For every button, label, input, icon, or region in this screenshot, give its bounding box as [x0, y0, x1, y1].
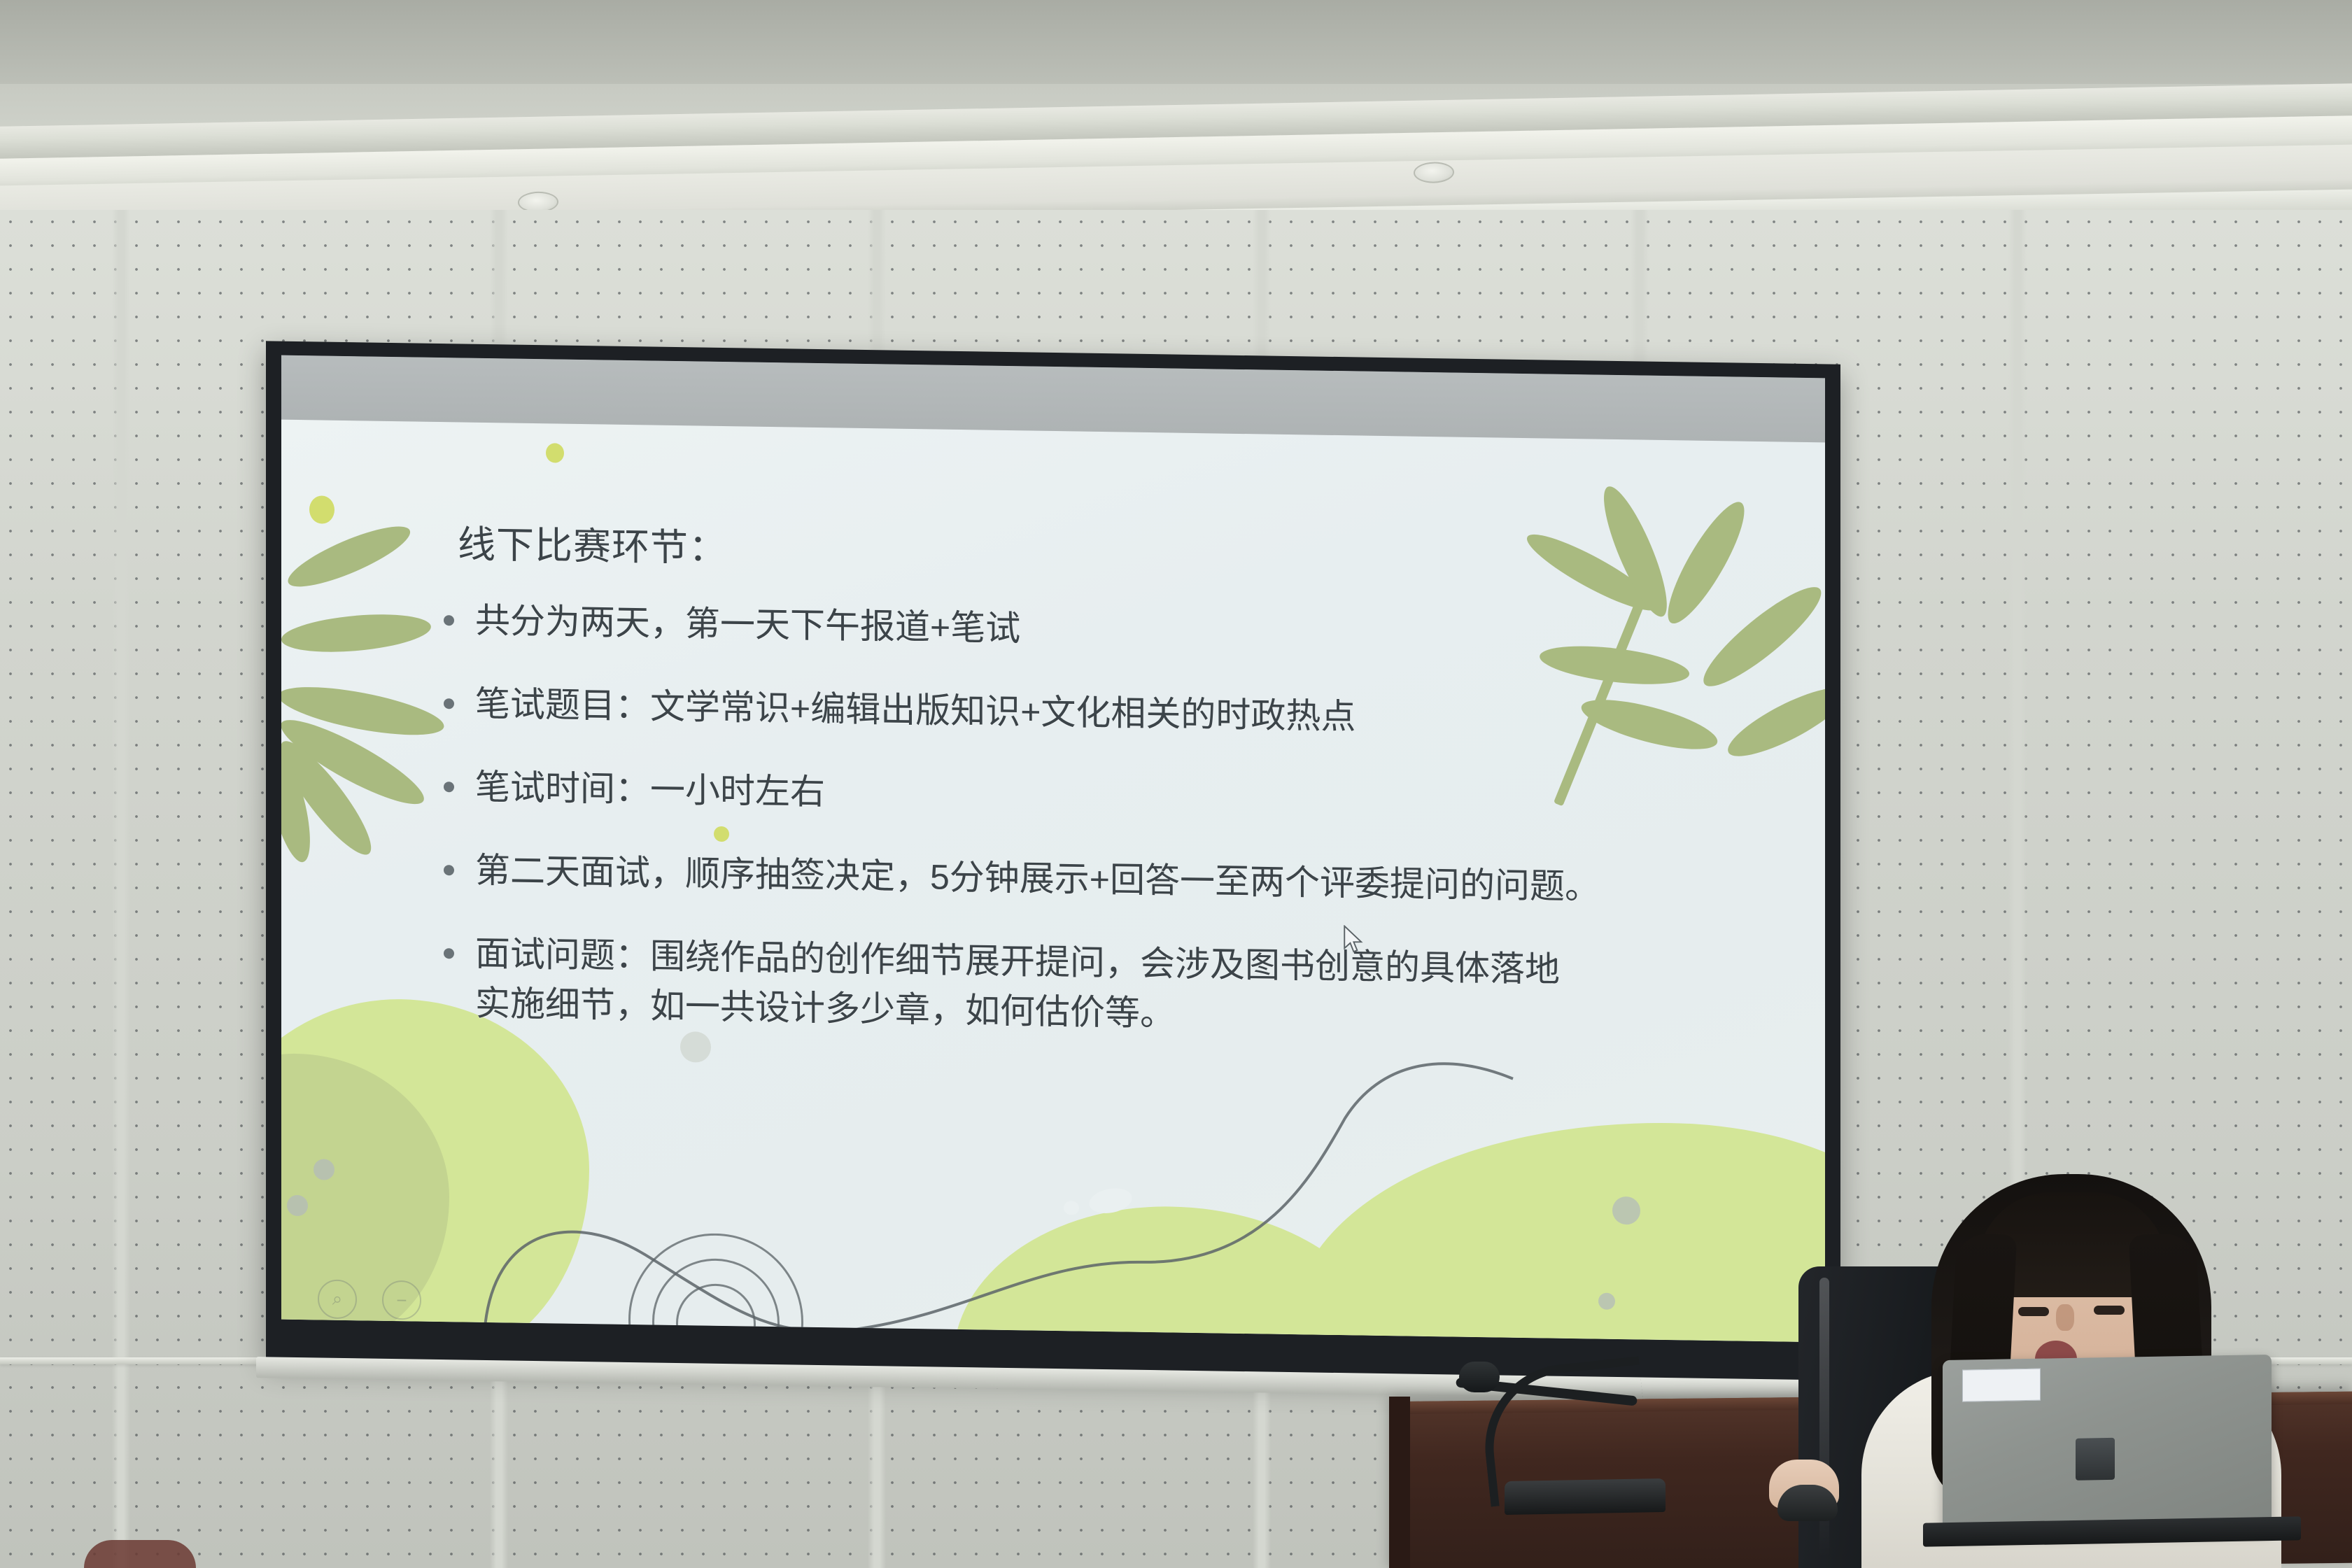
bullet-text: 共分为两天，第一天下午报道+笔试 [475, 596, 1020, 654]
slide-bullet-list: 共分为两天，第一天下午报道+笔试 笔试题目：文学常识+编辑出版知识+文化相关的时… [444, 595, 1724, 1080]
microphone-head-icon [1459, 1362, 1500, 1392]
leaf-branch-left-decor [281, 558, 442, 856]
foreground-shape [84, 1540, 196, 1568]
slideshow-toolbar[interactable]: ⌕ − [318, 1279, 421, 1320]
minus-icon[interactable]: − [382, 1280, 421, 1320]
bullet-dot-icon [444, 615, 454, 626]
slide-canvas[interactable]: 线下比赛环节： 共分为两天，第一天下午报道+笔试 笔试题目：文学常识+编辑出版知… [281, 420, 1825, 1343]
list-item: 面试问题：围绕作品的创作细节展开提问，会涉及图书创意的具体落地实施细节，如一共设… [444, 928, 1724, 1047]
slide-title: 线下比赛环节： [458, 513, 727, 572]
mouse-cursor-icon [1342, 925, 1366, 956]
eye-right [2094, 1306, 2125, 1315]
ceiling-slab [0, 0, 2352, 84]
leaf-icon [282, 516, 416, 598]
eye-left [2018, 1307, 2049, 1316]
presentation-room-photo: 线下比赛环节： 共分为两天，第一天下午报道+笔试 笔试题目：文学常识+编辑出版知… [0, 0, 2352, 1568]
list-item: 共分为两天，第一天下午报道+笔试 [444, 595, 1724, 664]
leaf-icon [281, 609, 432, 657]
list-item: 笔试题目：文学常识+编辑出版知识+文化相关的时政热点 [444, 679, 1724, 747]
magnifier-icon[interactable]: ⌕ [318, 1279, 357, 1319]
bullet-dot-icon [444, 782, 454, 792]
bullet-dot-icon [444, 698, 454, 709]
presenter-nose [2056, 1304, 2074, 1331]
bullet-dot-icon [444, 865, 454, 875]
accent-dot [309, 495, 335, 524]
bullet-text: 笔试题目：文学常识+编辑出版知识+文化相关的时政热点 [475, 679, 1355, 742]
bullet-text: 笔试时间：一小时左右 [475, 763, 825, 817]
bullet-dot-icon [444, 948, 454, 959]
leaf-icon [1656, 494, 1756, 632]
screen-surface: 线下比赛环节： 共分为两天，第一天下午报道+笔试 笔试题目：文学常识+编辑出版知… [281, 355, 1825, 1343]
accent-dot [546, 443, 564, 462]
computer-mouse[interactable] [1777, 1485, 1838, 1521]
list-item: 第二天面试，顺序抽签决定，5分钟展示+回答一至两个评委提问的问题。 [444, 845, 1724, 914]
projection-screen: 线下比赛环节： 共分为两天，第一天下午报道+笔试 笔试题目：文学常识+编辑出版知… [266, 341, 1840, 1383]
bullet-text: 面试问题：围绕作品的创作细节展开提问，会涉及图书创意的具体落地实施细节，如一共设… [475, 929, 1567, 1045]
leaf-icon [1720, 676, 1825, 768]
desk-left-panel [1389, 1397, 1410, 1568]
laptop[interactable] [1943, 1355, 2272, 1535]
laptop-asset-sticker [1962, 1369, 2041, 1402]
squiggle-line-decor [281, 1040, 1825, 1343]
list-item: 笔试时间：一小时左右 [444, 762, 1724, 831]
bullet-text: 第二天面试，顺序抽签决定，5分钟展示+回答一至两个评委提问的问题。 [475, 846, 1600, 912]
downlight-icon [1414, 162, 1454, 183]
laptop-logo-icon [2076, 1438, 2115, 1481]
